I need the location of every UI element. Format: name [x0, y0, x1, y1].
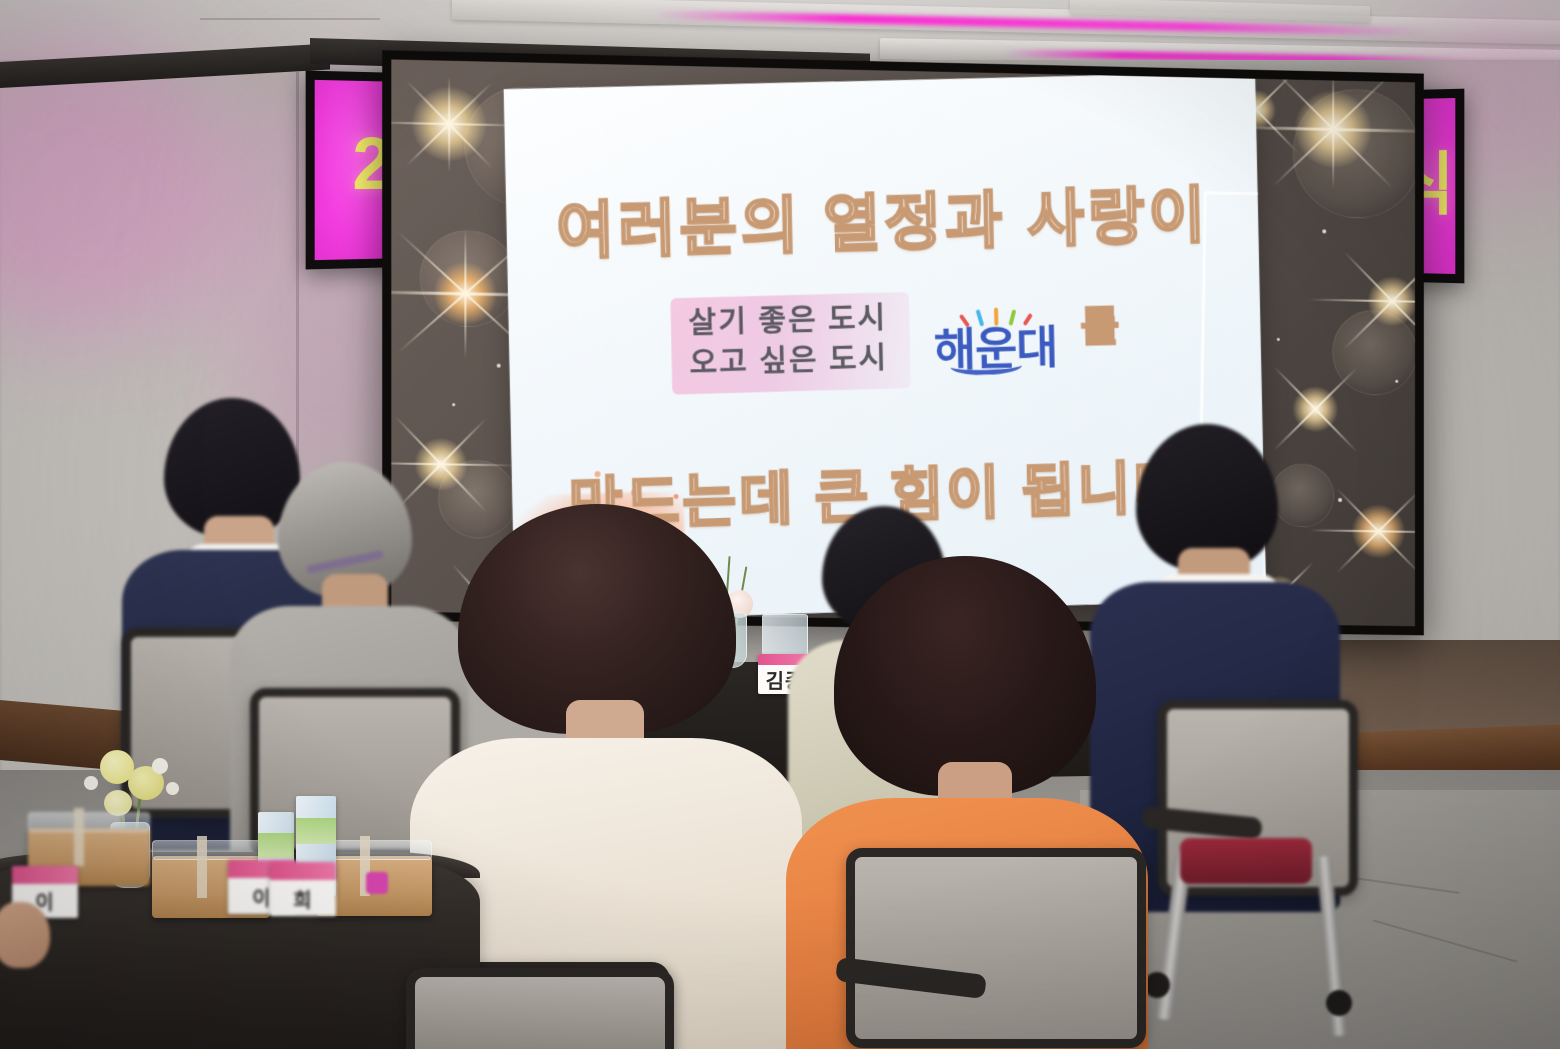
dust-mote: [1277, 338, 1280, 341]
slogan-line-2: 오고 싶은 도시: [689, 339, 889, 385]
sparkle-star: [1378, 530, 1380, 532]
slogan-line-1: 살기 좋은 도시: [688, 299, 888, 345]
bokeh-circle: [438, 459, 517, 539]
sparkle-star: [440, 463, 442, 465]
flower-bloom: [84, 776, 98, 790]
slide-particle: 를: [1080, 292, 1122, 354]
milk-carton-band: [258, 833, 294, 858]
sparkle-star: [1314, 408, 1316, 410]
sparkle-star: [1391, 300, 1393, 302]
food-box-twine: [197, 836, 207, 898]
name-card: 희: [270, 862, 336, 916]
name-card-header: [12, 866, 78, 884]
hand: [0, 902, 50, 968]
pink-table-item: [366, 872, 388, 894]
bokeh-circle: [420, 229, 517, 327]
bokeh-circle: [1293, 88, 1415, 220]
dust-mote: [1395, 380, 1398, 383]
flower-bloom: [152, 758, 168, 774]
dust-mote: [1338, 498, 1342, 502]
slogan-row: 살기 좋은 도시 오고 싶은 도시 해운대: [569, 284, 1222, 398]
chair-back: [406, 968, 674, 1049]
food-box-lid: [152, 840, 270, 860]
food-box-lid: [28, 812, 150, 832]
milk-carton-band: [296, 818, 336, 844]
scene-root: 20 려식: [0, 0, 1560, 1049]
sparkle-star: [448, 123, 450, 125]
haeundae-logo: 해운대: [927, 302, 1064, 374]
bokeh-circle: [1332, 309, 1415, 396]
chair-caster: [1326, 990, 1352, 1016]
flower-bloom: [166, 782, 179, 795]
dust-mote: [1322, 229, 1326, 233]
dust-mote: [497, 364, 501, 368]
chair: [406, 968, 674, 1049]
slide-headline-top: 여러분의 열정과 사랑이: [506, 163, 1259, 272]
chair-seat-cushion: [1180, 838, 1312, 884]
ceiling-seam: [200, 18, 380, 20]
chair: [846, 848, 1146, 1048]
chair-back: [846, 848, 1146, 1048]
food-box-twine: [74, 808, 84, 866]
dust-mote: [452, 403, 455, 406]
name-card-text: 희: [270, 880, 336, 916]
bokeh-circle: [1271, 463, 1334, 528]
name-card-header: [270, 862, 336, 880]
logo-rays-icon: [950, 303, 1040, 327]
slogan-block: 살기 좋은 도시 오고 싶은 도시: [670, 292, 911, 395]
